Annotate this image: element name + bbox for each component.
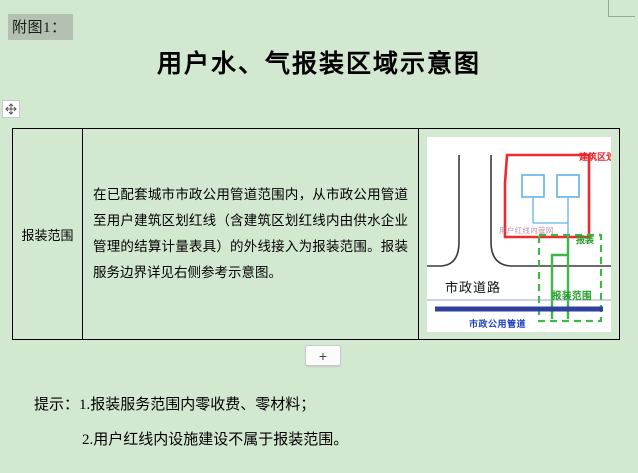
building-block-1 [522, 175, 544, 197]
note-line-2: 2.用户红线内设施建设不属于报装范围。 [82, 423, 594, 458]
note-line-1: 提示：1.报装服务范围内零收费、零材料； [34, 388, 594, 423]
row-label-text: 报装范围 [21, 225, 73, 244]
notes-block: 提示：1.报装服务范围内零收费、零材料； 2.用户红线内设施建设不属于报装范围。 [34, 388, 594, 458]
diagram-label-scope: 报装范围 [552, 288, 592, 302]
diagram-label-inner-network: 用户红线内管网 [499, 225, 554, 236]
building-block-2 [557, 175, 579, 197]
figure-number-label: 附图1： [8, 14, 73, 40]
diagram-label-municipal-pipe: 市政公用管道 [469, 317, 526, 330]
diagram-label-municipal-road: 市政道路 [445, 277, 501, 296]
table-cell-description[interactable]: 在已配套城市市政公用管道范围内，从市政公用管道至用户建筑区划红线（含建筑区划红线… [83, 129, 419, 339]
diagram-label-scope-top: 报装 [576, 233, 594, 246]
page-title: 用户水、气报装区域示意图 [0, 44, 638, 80]
table-cell-figure[interactable]: 建筑区划红线 用户红线内管网 报装 报装范围 市政道路 市政公用管道 [419, 129, 619, 339]
diagram-label-building-redline: 建筑区划红线 [579, 151, 605, 163]
description-text: 在已配套城市市政公用管道范围内，从市政公用管道至用户建筑区划红线（含建筑区划红线… [93, 182, 408, 286]
move-cross-icon [5, 103, 17, 115]
content-table: 报装范围 在已配套城市市政公用管道范围内，从市政公用管道至用户建筑区划红线（含建… [12, 128, 620, 340]
table-move-handle[interactable] [2, 100, 20, 118]
table-cell-row-label[interactable]: 报装范围 [13, 129, 83, 339]
page-margin-marker-top-right [608, 0, 635, 17]
scope-diagram: 建筑区划红线 用户红线内管网 报装 报装范围 市政道路 市政公用管道 [427, 137, 611, 332]
add-table-row-button[interactable]: + [305, 345, 341, 366]
